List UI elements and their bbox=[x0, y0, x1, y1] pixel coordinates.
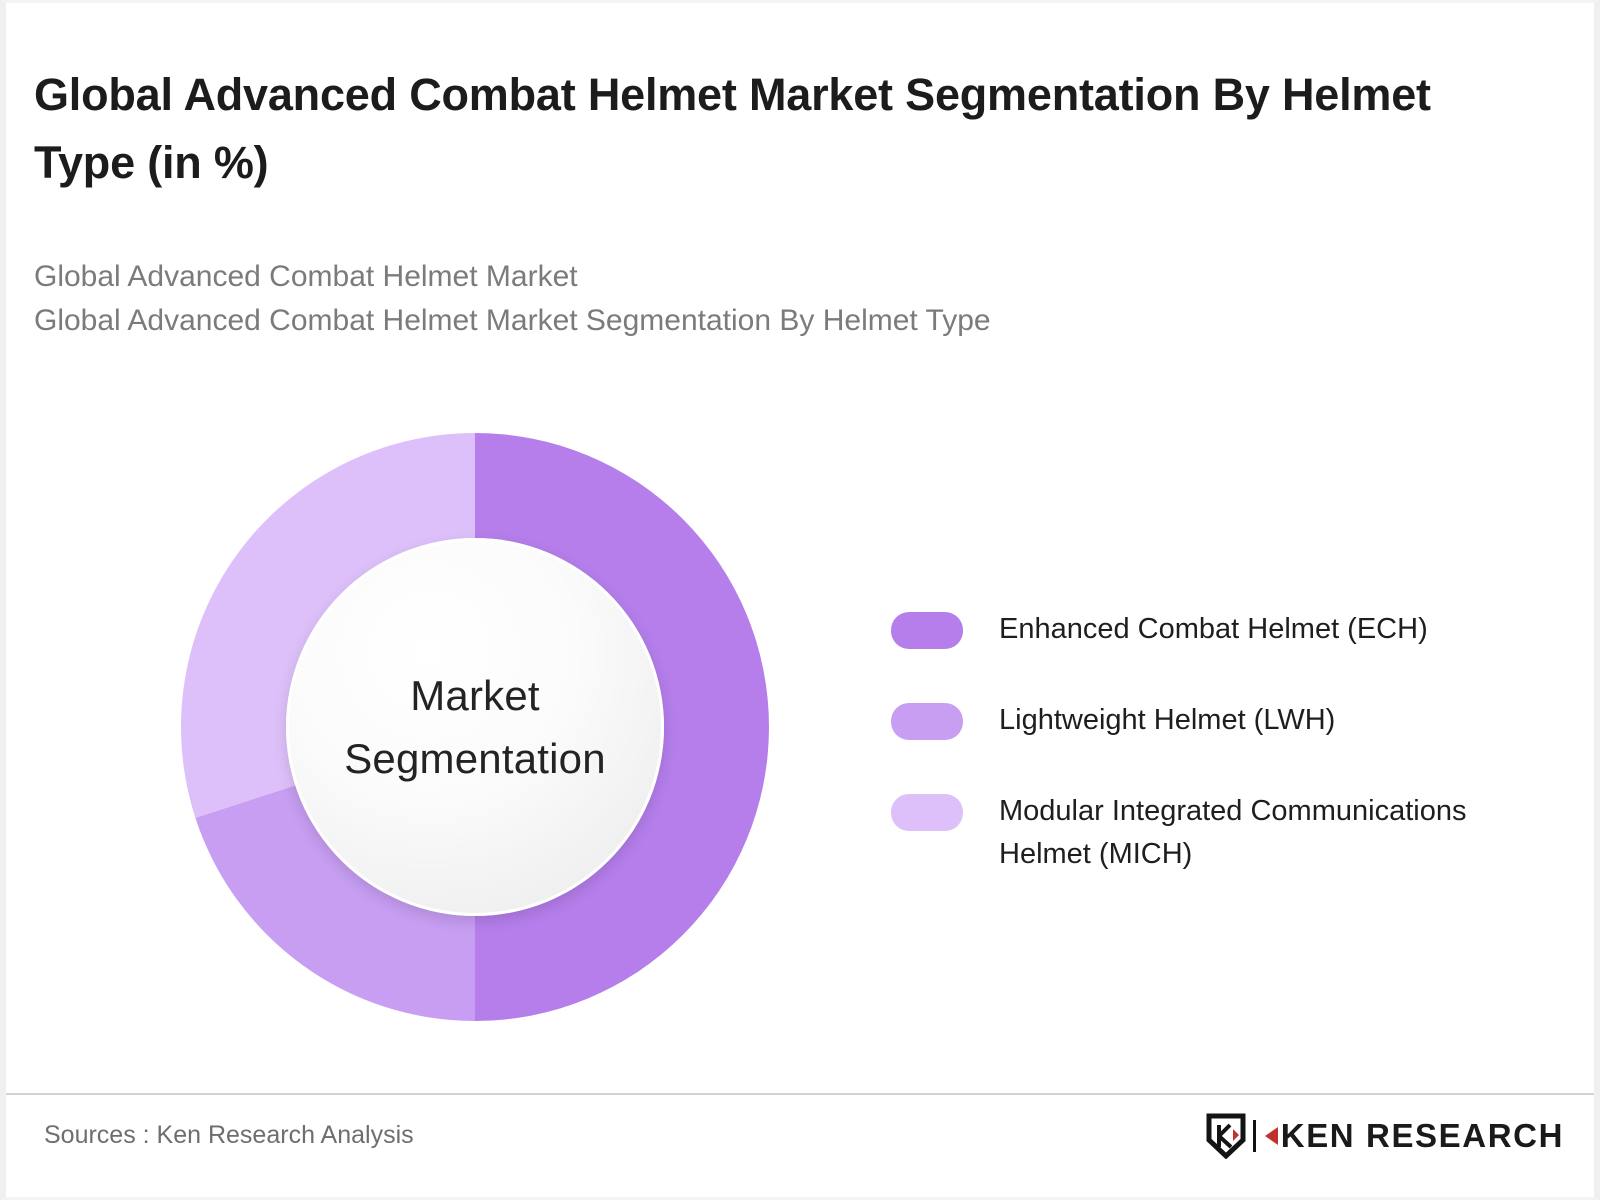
legend-label: Lightweight Helmet (LWH) bbox=[999, 699, 1335, 742]
page-subtitle: Global Advanced Combat Helmet Market Glo… bbox=[34, 255, 1434, 343]
legend-swatch bbox=[891, 612, 963, 649]
ken-research-logo: KEN RESEARCH bbox=[1206, 1113, 1564, 1159]
legend-swatch bbox=[891, 703, 963, 740]
legend-item[interactable]: Modular Integrated Communications Helmet… bbox=[891, 790, 1551, 876]
subtitle-line-2: Global Advanced Combat Helmet Market Seg… bbox=[34, 299, 1434, 343]
chart-area: Market Segmentation Enhanced Combat Helm… bbox=[6, 403, 1600, 1063]
donut-chart: Market Segmentation bbox=[181, 433, 769, 1021]
legend-label: Enhanced Combat Helmet (ECH) bbox=[999, 608, 1428, 651]
logo-wordmark-text: KEN RESEARCH bbox=[1281, 1117, 1564, 1155]
donut-center-line-1: Market bbox=[344, 664, 606, 727]
page-title: Global Advanced Combat Helmet Market Seg… bbox=[34, 61, 1494, 198]
logo-divider bbox=[1253, 1120, 1256, 1152]
donut-center-label: Market Segmentation bbox=[344, 664, 606, 790]
sources-text: Sources : Ken Research Analysis bbox=[44, 1121, 414, 1150]
chart-page: Global Advanced Combat Helmet Market Seg… bbox=[0, 0, 1600, 1200]
triangle-icon bbox=[1265, 1127, 1278, 1145]
subtitle-line-1: Global Advanced Combat Helmet Market bbox=[34, 255, 1434, 299]
legend-item[interactable]: Enhanced Combat Helmet (ECH) bbox=[891, 608, 1551, 651]
donut-center-line-2: Segmentation bbox=[344, 727, 606, 790]
shield-icon bbox=[1206, 1113, 1246, 1159]
legend-swatch bbox=[891, 794, 963, 831]
chart-legend: Enhanced Combat Helmet (ECH)Lightweight … bbox=[891, 608, 1551, 924]
footer-divider bbox=[6, 1093, 1594, 1095]
logo-wordmark: KEN RESEARCH bbox=[1265, 1117, 1564, 1155]
legend-label: Modular Integrated Communications Helmet… bbox=[999, 790, 1539, 876]
donut-center-hole: Market Segmentation bbox=[286, 538, 664, 916]
legend-item[interactable]: Lightweight Helmet (LWH) bbox=[891, 699, 1551, 742]
